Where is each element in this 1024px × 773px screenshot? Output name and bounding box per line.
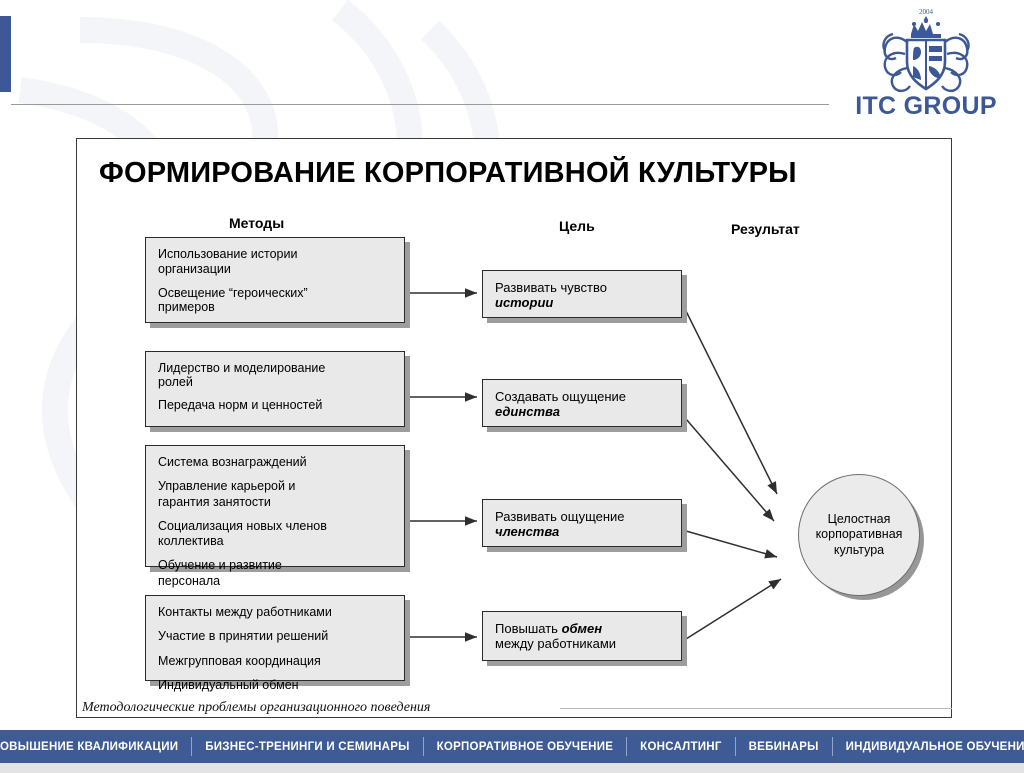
header-divider (11, 104, 829, 105)
page-title: ФОРМИРОВАНИЕ КОРПОРАТИВНОЙ КУЛЬТУРЫ (99, 157, 797, 190)
diagram-frame: ФОРМИРОВАНИЕ КОРПОРАТИВНОЙ КУЛЬТУРЫ Мето… (76, 138, 952, 718)
heraldic-crest-icon: 2004 (867, 4, 985, 96)
goal-box-unity[interactable]: Создавать ощущение единства (482, 379, 682, 427)
goal-emphasis: единства (495, 404, 671, 419)
footer-navigation: ПОВЫШЕНИЕ КВАЛИФИКАЦИИ БИЗНЕС-ТРЕНИНГИ И… (0, 730, 1024, 763)
footnote-divider (560, 708, 952, 709)
method-line: примеров (158, 300, 394, 315)
result-circle[interactable]: Целостная корпоративная культура (798, 474, 920, 596)
goal-box-history[interactable]: Развивать чувство истории (482, 270, 682, 318)
result-text: Целостная корпоративная культура (816, 512, 903, 559)
goal-emphasis: обмен (562, 621, 603, 636)
method-line: Контакты между работниками (158, 605, 394, 620)
method-line: коллектива (158, 534, 394, 549)
method-paragraph: Участие в принятии решений (158, 629, 394, 644)
nav-item-5[interactable]: ИНДИВИДУАЛЬНОЕ ОБУЧЕНИЕ (833, 741, 1024, 753)
goal-line: Создавать ощущение (495, 389, 671, 404)
method-line: организации (158, 262, 394, 277)
nav-item-0[interactable]: ПОВЫШЕНИЕ КВАЛИФИКАЦИИ (0, 741, 191, 753)
method-line: Обучение и развитие (158, 558, 394, 573)
method-paragraph: Использование истории организации (158, 247, 394, 277)
nav-item-2[interactable]: КОРПОРАТИВНОЕ ОБУЧЕНИЕ (424, 741, 627, 753)
method-line: Социализация новых членов (158, 519, 394, 534)
slide-canvas: 2004 (0, 0, 1024, 773)
method-paragraph: Обучение и развитие персонала (158, 558, 394, 589)
goal-line: Развивать ощущение (495, 509, 671, 524)
method-paragraph: Лидерство и моделирование ролей (158, 361, 394, 389)
nav-item-4[interactable]: ВЕБИНАРЫ (736, 741, 832, 753)
result-line: культура (816, 543, 903, 559)
goal-emphasis: истории (495, 295, 671, 310)
method-box-communication[interactable]: Контакты между работниками Участие в при… (145, 595, 405, 681)
logo-year-text: 2004 (919, 8, 934, 16)
method-line: Индивидуальный обмен (158, 678, 394, 693)
link-goal4-result (686, 579, 781, 639)
result-line: корпоративная (816, 527, 903, 543)
method-paragraph: Передача норм и ценностей (158, 398, 394, 412)
method-line: Система вознаграждений (158, 455, 394, 470)
link-goal3-result (686, 531, 777, 557)
link-goal2-result (686, 419, 774, 521)
link-goal1-result (686, 311, 777, 494)
logo-wordmark: ITC GROUP (846, 94, 1006, 119)
method-line: Участие в принятии решений (158, 629, 394, 644)
header-accent-bar (0, 16, 11, 92)
nav-item-1[interactable]: БИЗНЕС-ТРЕНИНГИ И СЕМИНАРЫ (192, 741, 422, 753)
goal-prefix: Повышать (495, 621, 558, 636)
method-line: Передача норм и ценностей (158, 398, 394, 412)
method-paragraph: Межгрупповая координация (158, 654, 394, 669)
method-line: Управление карьерой и (158, 479, 394, 494)
footnote-caption: Методологические проблемы организационно… (82, 700, 430, 716)
method-paragraph: Индивидуальный обмен (158, 678, 394, 693)
goal-suffix: между работниками (495, 636, 671, 651)
goal-box-belonging[interactable]: Развивать ощущение членства (482, 499, 682, 547)
column-header-goal: Цель (559, 218, 595, 234)
brand-logo[interactable]: 2004 (846, 4, 1006, 122)
method-line: Использование истории (158, 247, 394, 262)
method-paragraph: Освещение “героических” примеров (158, 286, 394, 316)
method-box-history[interactable]: Использование истории организации Освеще… (145, 237, 405, 323)
result-line: Целостная (816, 512, 903, 528)
method-box-rewards[interactable]: Система вознаграждений Управление карьер… (145, 445, 405, 567)
goal-box-exchange[interactable]: Повышать обмен между работниками (482, 611, 682, 661)
nav-item-3[interactable]: КОНСАЛТИНГ (627, 741, 734, 753)
method-paragraph: Управление карьерой и гарантия занятости (158, 479, 394, 510)
footer-underbar (0, 763, 1024, 773)
method-paragraph: Система вознаграждений (158, 455, 394, 470)
method-line: персонала (158, 574, 394, 589)
method-line: Лидерство и моделирование (158, 361, 394, 375)
method-paragraph: Социализация новых членов коллектива (158, 519, 394, 550)
goal-line: Повышать обмен (495, 621, 671, 636)
method-box-leadership[interactable]: Лидерство и моделирование ролей Передача… (145, 351, 405, 427)
method-line: Освещение “героических” (158, 286, 394, 301)
goal-line: Развивать чувство (495, 280, 671, 295)
method-line: Межгрупповая координация (158, 654, 394, 669)
method-line: ролей (158, 375, 394, 389)
column-header-methods: Методы (229, 215, 284, 231)
method-line: гарантия занятости (158, 495, 394, 510)
goal-emphasis: членства (495, 524, 671, 539)
method-paragraph: Контакты между работниками (158, 605, 394, 620)
column-header-result: Результат (731, 221, 800, 237)
